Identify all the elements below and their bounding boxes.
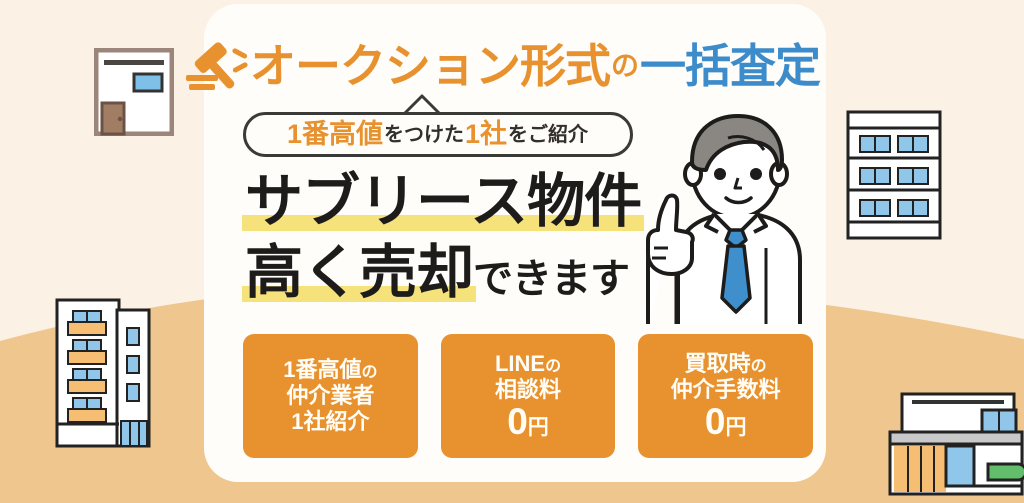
- bubble-seg3: 1社: [465, 121, 507, 148]
- feature-box-2-amount-value: 0: [507, 401, 528, 442]
- feature-box-3-line1-suffix: の: [751, 358, 767, 375]
- feature-box-2-amount-unit: 円: [528, 416, 549, 439]
- feature-box-1-line3: 1社紹介: [291, 409, 369, 435]
- apartment-building-left-icon: [55, 288, 155, 448]
- main-copy-line1: サブリース物件: [245, 172, 641, 233]
- feature-box-3-amount: 0円: [705, 403, 747, 442]
- feature-box-2-line1-main: LINE: [495, 351, 545, 376]
- businessman-illustration: [632, 108, 828, 329]
- house-top-left-icon: [94, 48, 174, 136]
- feature-box-list: 1番高値の 仲介業者 1社紹介 LINEの 相談料 0円 買取時の 仲介手数料 …: [243, 334, 813, 458]
- feature-box-1-line1: 1番高値の: [283, 357, 377, 383]
- main-copy-line2-suffix: できます: [473, 259, 629, 299]
- feature-box-3-line2: 仲介手数料: [671, 377, 781, 403]
- main-copy-line1-text: サブリース物件: [245, 172, 641, 233]
- feature-box-3-line1: 買取時の: [685, 351, 767, 377]
- headline-part1: オークション形式: [250, 43, 610, 89]
- feature-box-2[interactable]: LINEの 相談料 0円: [441, 334, 616, 458]
- feature-box-2-line2: 相談料: [495, 377, 561, 403]
- speech-bubble: 1番高値 をつけた 1社 をご紹介: [243, 112, 633, 157]
- headline-part2: 一括査定: [640, 43, 820, 89]
- main-copy-line2: 高く売却 できます: [245, 243, 629, 304]
- feature-box-2-amount: 0円: [507, 403, 549, 442]
- feature-box-3[interactable]: 買取時の 仲介手数料 0円: [638, 334, 813, 458]
- feature-box-1-line1-main: 1番高値: [283, 357, 361, 382]
- feature-box-3-line1-main: 買取時: [685, 351, 751, 376]
- bubble-seg1: 1番高値: [287, 121, 383, 148]
- feature-box-2-line1: LINEの: [495, 351, 561, 377]
- feature-box-1-line1-suffix: の: [361, 364, 377, 381]
- bubble-seg2: をつけた: [383, 125, 465, 145]
- headline-particle: の: [610, 52, 640, 80]
- office-building-right-icon: [846, 110, 942, 240]
- feature-box-1-line2: 仲介業者: [286, 383, 374, 409]
- main-copy-line2-emphasis: 高く売却: [245, 243, 473, 304]
- feature-box-3-amount-value: 0: [705, 401, 726, 442]
- feature-box-2-line1-suffix: の: [545, 358, 561, 375]
- shop-building-bottom-right-icon: [888, 390, 1024, 500]
- gavel-icon: [186, 35, 248, 98]
- feature-box-1[interactable]: 1番高値の 仲介業者 1社紹介: [243, 334, 418, 458]
- headline: オークション形式 の 一括査定: [186, 35, 826, 97]
- promo-banner: オークション形式 の 一括査定 1番高値 をつけた 1社 をご紹介 サブリース物…: [0, 0, 1024, 503]
- feature-box-3-amount-unit: 円: [725, 416, 746, 439]
- bubble-seg4: をご紹介: [507, 125, 589, 145]
